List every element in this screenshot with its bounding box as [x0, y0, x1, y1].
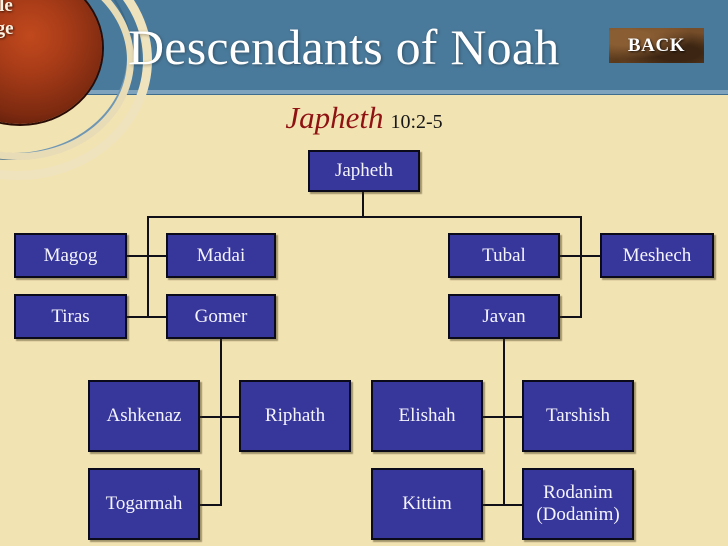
node-meshech-label: Meshech [602, 245, 712, 267]
node-meshech[interactable]: Meshech [600, 233, 714, 278]
connector-japheth-stem [362, 192, 364, 218]
slide-canvas: Title Page Descendants of Noah BACK Japh… [0, 0, 728, 546]
node-gomer-label: Gomer [168, 306, 274, 328]
node-riphath[interactable]: Riphath [239, 380, 351, 452]
node-rodanim-label: Rodanim (Dodanim) [524, 482, 632, 526]
node-elishah-label: Elishah [373, 405, 481, 427]
node-togarmah[interactable]: Togarmah [88, 468, 200, 540]
node-ashkenaz[interactable]: Ashkenaz [88, 380, 200, 452]
node-javan[interactable]: Javan [448, 294, 560, 339]
connector-javan-drop [503, 339, 505, 505]
connector-magog-madai [127, 255, 166, 257]
node-rodanim[interactable]: Rodanim (Dodanim) [522, 468, 634, 540]
node-ashkenaz-label: Ashkenaz [90, 405, 198, 427]
connector-togarmah-stub [200, 504, 222, 506]
connector-tubal-meshech [560, 255, 600, 257]
node-tiras[interactable]: Tiras [14, 294, 127, 339]
node-tubal[interactable]: Tubal [448, 233, 560, 278]
node-tarshish[interactable]: Tarshish [522, 380, 634, 452]
node-kittim[interactable]: Kittim [371, 468, 483, 540]
node-riphath-label: Riphath [241, 405, 349, 427]
connector-left-drop [147, 216, 149, 318]
connector-right-drop [580, 216, 582, 318]
connector-gomer-drop [220, 339, 222, 505]
connector-gen2-trunk [147, 216, 582, 218]
connector-elishah-tarshish [483, 416, 524, 418]
node-madai[interactable]: Madai [166, 233, 276, 278]
node-elishah[interactable]: Elishah [371, 380, 483, 452]
node-japheth[interactable]: Japheth [308, 150, 420, 192]
connector-javan-stub [560, 316, 582, 318]
node-javan-label: Javan [450, 306, 558, 328]
connector-kittim-rodanim [483, 504, 524, 506]
family-tree-diagram: Japheth Magog Madai Tubal Meshech Tiras … [0, 0, 728, 546]
node-tarshish-label: Tarshish [524, 405, 632, 427]
node-tiras-label: Tiras [16, 306, 125, 328]
connector-tiras-gomer [127, 316, 166, 318]
node-madai-label: Madai [168, 245, 274, 267]
node-tubal-label: Tubal [450, 245, 558, 267]
node-togarmah-label: Togarmah [90, 493, 198, 515]
node-rodanim-line1: Rodanim [543, 482, 613, 503]
node-japheth-label: Japheth [310, 160, 418, 182]
node-kittim-label: Kittim [373, 493, 481, 515]
node-gomer[interactable]: Gomer [166, 294, 276, 339]
node-magog[interactable]: Magog [14, 233, 127, 278]
connector-ashkenaz-riphath [200, 416, 240, 418]
node-rodanim-line2: (Dodanim) [536, 504, 619, 525]
node-magog-label: Magog [16, 245, 125, 267]
